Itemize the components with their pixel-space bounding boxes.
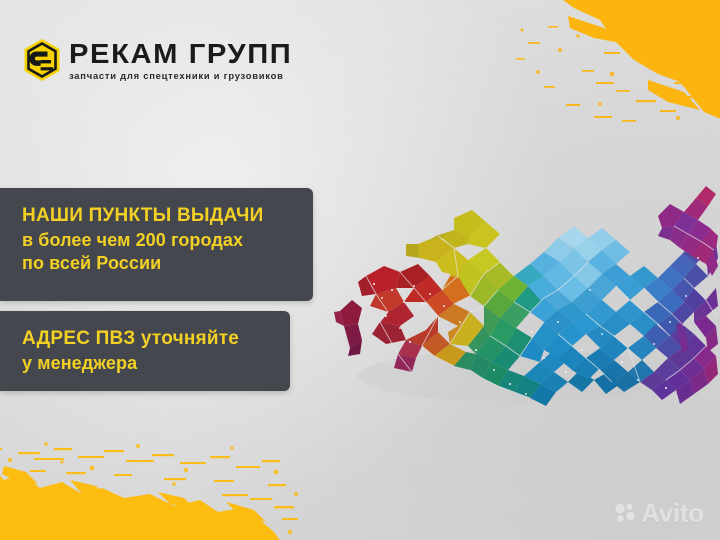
promo-banner: РЕКАМ ГРУПП запчасти для спецтехники и г…	[0, 0, 720, 540]
panel2-line2: у менеджера	[22, 352, 270, 375]
panel1-line1: НАШИ ПУНКТЫ ВЫДАЧИ	[22, 204, 293, 229]
logo-wordmark: РЕКАМ ГРУПП	[69, 40, 297, 68]
avito-dots-icon	[614, 502, 636, 524]
panel2-line1: АДРЕС ПВЗ уточняйте	[22, 327, 270, 352]
pickup-points-panel: НАШИ ПУНКТЫ ВЫДАЧИ в более чем 200 город…	[0, 188, 313, 301]
avito-label: Avito	[641, 500, 704, 526]
russia-low-poly-map	[318, 126, 718, 416]
pickup-address-panel: АДРЕС ПВЗ уточняйте у менеджера	[0, 311, 290, 391]
brand-logo: РЕКАМ ГРУПП запчасти для спецтехники и г…	[22, 38, 284, 82]
paint-splash-top-right	[508, 0, 720, 126]
panel1-line2: в более чем 200 городах	[22, 229, 293, 252]
paint-splash-bottom-left	[0, 436, 304, 540]
panel1-line3: по всей России	[22, 252, 293, 275]
hexagon-f-logo-icon	[22, 38, 62, 82]
avito-watermark: Avito	[614, 500, 704, 526]
logo-tagline: запчасти для спецтехники и грузовиков	[69, 71, 284, 80]
